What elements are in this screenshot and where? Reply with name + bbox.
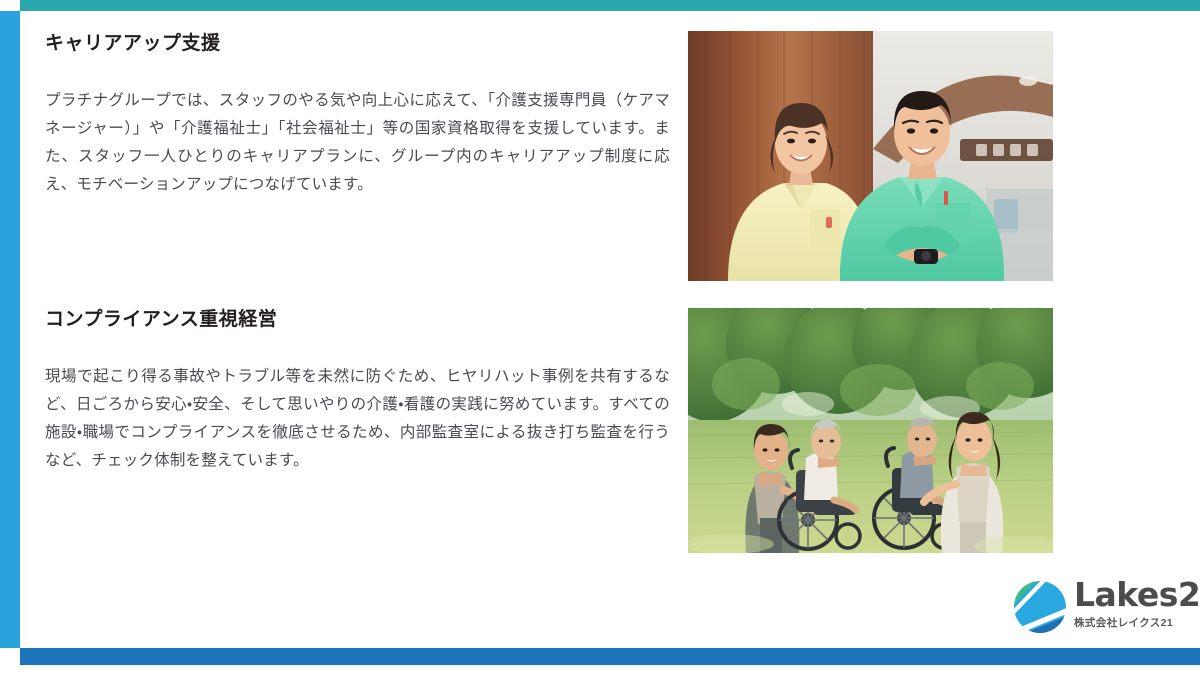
top-accent-bar [20, 0, 1200, 11]
section-body-compliance: 現場で起こり得る事故やトラブル等を未然に防ぐため、ヒヤリハット事例を共有するなど… [45, 363, 670, 476]
bottom-accent-bar [20, 648, 1200, 665]
photo-career-staff [688, 31, 1053, 281]
lakes21-circle-mark-icon [1012, 579, 1068, 635]
logo-text-block: Lakes21 株式会社レイクス21 [1074, 576, 1180, 630]
section-heading-career: キャリアアップ支援 [45, 32, 670, 57]
logo-subtitle: 株式会社レイクス21 [1074, 615, 1180, 630]
logo-wordmark: Lakes21 [1074, 576, 1180, 614]
section-career-support: キャリアアップ支援 プラチナグループでは、スタッフのやる気や向上心に応えて、「介… [45, 32, 670, 200]
section-compliance-management: コンプライアンス重視経営 現場で起こり得る事故やトラブル等を未然に防ぐため、ヒヤ… [45, 308, 670, 476]
left-accent-bar [0, 11, 20, 648]
section-body-career: プラチナグループでは、スタッフのやる気や向上心に応えて、「介護支援専門員（ケアマ… [45, 87, 670, 200]
photo-compliance-park [688, 308, 1053, 553]
company-logo: Lakes21 株式会社レイクス21 [1012, 576, 1180, 638]
slide-canvas: キャリアアップ支援 プラチナグループでは、スタッフのやる気や向上心に応えて、「介… [0, 0, 1200, 675]
section-heading-compliance: コンプライアンス重視経営 [45, 308, 670, 333]
